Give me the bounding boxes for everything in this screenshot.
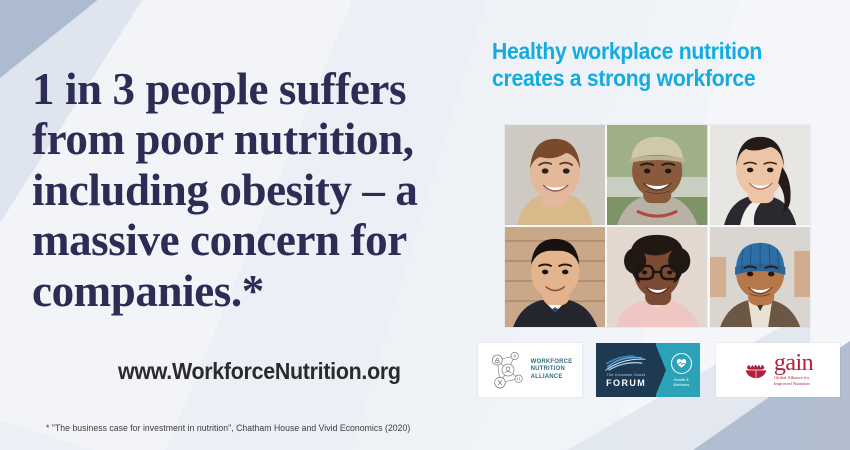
logo-gain-sub-line-2: Improved Nutrition xyxy=(774,381,813,387)
logo-gain-wordmark: gain xyxy=(774,353,813,373)
cgf-swoosh-icon xyxy=(604,353,648,373)
poster-canvas: 1 in 3 people suffers from poor nutritio… xyxy=(0,0,850,450)
logo-cgf-unit: Health & Wellness xyxy=(673,377,689,387)
portrait-grid xyxy=(505,125,810,327)
logo-cgf-wordmark: FORUM xyxy=(606,378,646,388)
kicker-heading: Healthy workplace nutrition creates a st… xyxy=(492,38,812,92)
heart-pulse-icon xyxy=(671,353,692,374)
portrait-man-beanie xyxy=(710,227,810,327)
source-footnote: * "The business case for investment in n… xyxy=(46,423,410,433)
logo-wna-wordmark: WORKFORCE NUTRITION ALLIANCE xyxy=(531,359,573,380)
portrait-woman-short-hair xyxy=(505,125,605,225)
right-column: Healthy workplace nutrition creates a st… xyxy=(470,0,850,450)
logo-consumer-goods-forum[interactable]: The Consumer Goods FORUM Health & W xyxy=(596,343,700,397)
page-title: 1 in 3 people suffers from poor nutritio… xyxy=(32,64,462,316)
gain-bowl-icon xyxy=(743,359,769,381)
logo-wna-line-3: ALLIANCE xyxy=(531,374,573,381)
portrait-man-suit xyxy=(505,227,605,327)
network-nodes-icon xyxy=(488,349,528,391)
logo-cgf-left-panel: The Consumer Goods FORUM xyxy=(596,343,656,397)
portrait-woman-braid xyxy=(710,125,810,225)
left-column: 1 in 3 people suffers from poor nutritio… xyxy=(0,0,470,450)
logo-gain-subtitle: Global Alliance for Improved Nutrition xyxy=(774,375,813,387)
logo-cgf-unit-line-2: Wellness xyxy=(673,382,689,387)
logo-cgf-tagline: The Consumer Goods xyxy=(607,373,646,377)
portrait-man-cap xyxy=(607,125,707,225)
logo-wna-line-2: NUTRITION xyxy=(531,366,573,373)
logo-wna-line-1: WORKFORCE xyxy=(531,359,573,366)
partner-logos: WORKFORCE NUTRITION ALLIANCE xyxy=(478,343,842,397)
logo-gain[interactable]: gain Global Alliance for Improved Nutrit… xyxy=(716,343,840,397)
logo-workforce-nutrition-alliance[interactable]: WORKFORCE NUTRITION ALLIANCE xyxy=(478,343,582,397)
portrait-woman-glasses xyxy=(607,227,707,327)
website-url[interactable]: www.WorkforceNutrition.org xyxy=(118,358,401,385)
